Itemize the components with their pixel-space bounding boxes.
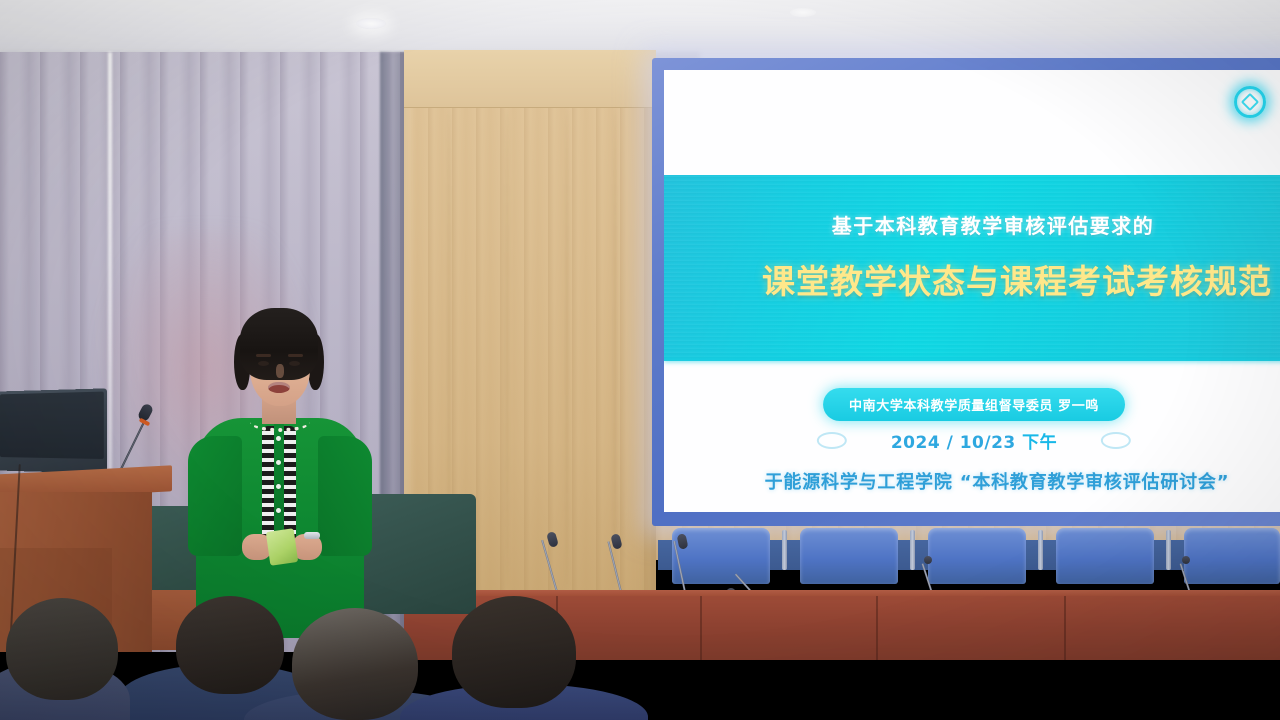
conference-room-photo: 基于本科教育教学审核评估要求的 课堂教学状态与课程考试考核规范 中南大学本科教学… — [0, 0, 1280, 720]
presentation-slide: 基于本科教育教学审核评估要求的 课堂教学状态与课程考试考核规范 中南大学本科教学… — [664, 70, 1280, 512]
presenter-eye — [258, 361, 269, 366]
cardigan-button — [276, 436, 281, 441]
slide-date: 2024 / 10/23 下午 — [891, 428, 1057, 453]
decor-ellipse-right-icon — [1101, 432, 1131, 449]
chair-back — [672, 528, 770, 584]
cardigan-button — [276, 508, 281, 513]
cardigan-button — [276, 484, 281, 489]
cardigan-button — [276, 460, 281, 465]
pearl-necklace — [250, 412, 310, 432]
wood-wall-panel-header — [404, 50, 656, 108]
dais-panel-seam — [700, 596, 702, 660]
chair-back — [1184, 528, 1280, 584]
slide-date-row: 2024 / 10/23 下午 — [817, 428, 1131, 453]
slide-date-value: 2024 / 10/23 — [891, 433, 1022, 453]
presenter-sleeve-right — [318, 436, 372, 556]
presenter-badge: 中南大学本科教学质量组督导委员 罗一鸣 — [823, 388, 1125, 421]
presenter-eyebrow — [288, 354, 303, 357]
presenter-mouth — [268, 382, 290, 393]
ceiling-downlight-icon — [356, 18, 386, 29]
chair-leg — [1038, 530, 1043, 570]
presenter-eyebrow — [256, 354, 271, 357]
slide-date-suffix: 下午 — [1022, 433, 1057, 453]
slide-title: 课堂教学状态与课程考试考核规范 — [664, 255, 1280, 303]
institution-logo-icon — [1234, 86, 1266, 118]
attendee-head — [176, 596, 284, 694]
slide-subtitle: 基于本科教育教学审核评估要求的 — [664, 210, 1280, 239]
chair-back — [1056, 528, 1154, 584]
projection-screen: 基于本科教育教学审核评估要求的 课堂教学状态与课程考试考核规范 中南大学本科教学… — [664, 70, 1280, 512]
presenter-sleeve-left — [188, 436, 242, 556]
wood-grain-line — [506, 108, 508, 588]
chair-back — [928, 528, 1026, 584]
attendee-head — [292, 608, 418, 720]
slide-footer: 于能源科学与工程学院 “本科教育教学审核评估研讨会” — [664, 468, 1280, 494]
microphone-head-icon — [1182, 556, 1190, 564]
monitor-screen — [0, 392, 104, 459]
presenter-eye — [289, 361, 300, 366]
attendee-head — [452, 596, 576, 708]
decor-ellipse-left-icon — [817, 432, 847, 449]
ceiling-downlight-secondary-icon — [790, 8, 816, 17]
attendee-head — [6, 598, 118, 700]
handheld-item — [266, 528, 298, 566]
chair-back — [800, 528, 898, 584]
wood-grain-line — [566, 108, 568, 588]
dais-panel-seam — [1064, 596, 1066, 660]
chair-leg — [910, 530, 915, 570]
presenter — [178, 308, 378, 638]
chair-leg — [1166, 530, 1171, 570]
chair-leg — [782, 530, 787, 570]
microphone-head-icon — [924, 556, 932, 564]
dais-panel-seam — [876, 596, 878, 660]
wristwatch — [304, 532, 320, 539]
lectern-monitor — [0, 388, 107, 473]
presenter-nose — [276, 364, 284, 378]
wood-grain-line — [614, 108, 616, 588]
